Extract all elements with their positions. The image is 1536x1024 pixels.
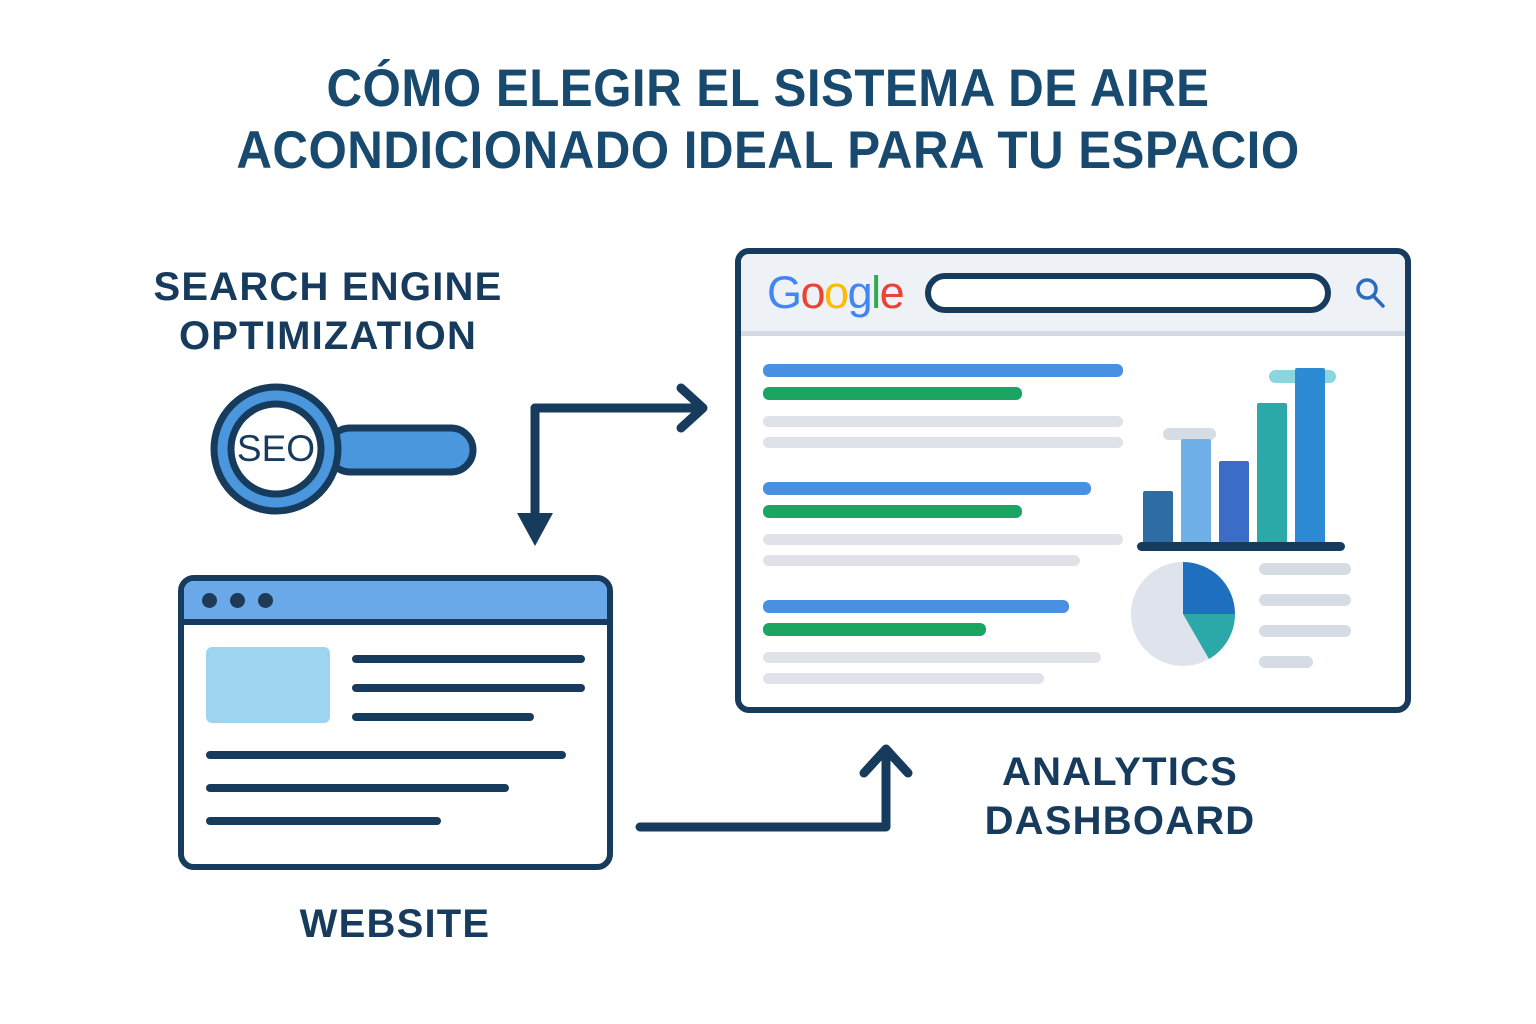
result-description-bar [763, 652, 1101, 663]
text-line [352, 655, 585, 663]
google-logo-letter-o2: o [824, 267, 848, 318]
legend-bar [1259, 656, 1313, 668]
window-dot-maximize-icon[interactable] [258, 593, 273, 608]
google-logo-letter-g1: G [767, 267, 801, 318]
legend-bar [1259, 563, 1351, 575]
seo-badge-text: SEO [237, 428, 315, 469]
window-dot-minimize-icon[interactable] [230, 593, 245, 608]
search-icon[interactable] [1353, 276, 1387, 310]
result-title-bar [763, 600, 1069, 613]
google-logo-letter-e: e [880, 267, 904, 318]
google-header: Google [741, 254, 1405, 336]
page-title: CÓMO ELEGIR EL SISTEMA DE AIRE ACONDICIO… [54, 58, 1482, 182]
arrow-website-to-analytics [632, 735, 922, 840]
bar-3 [1219, 461, 1249, 543]
search-results-list [763, 358, 1123, 708]
search-result-item[interactable] [763, 600, 1123, 684]
google-logo: Google [767, 270, 903, 316]
bar-chart-baseline [1137, 542, 1345, 551]
website-browser-mockup[interactable] [178, 575, 613, 870]
website-titlebar [184, 581, 607, 625]
text-line [352, 713, 534, 721]
website-content [184, 625, 607, 825]
bar-4 [1257, 403, 1287, 543]
pie-slice-b [1183, 562, 1235, 614]
search-result-item[interactable] [763, 364, 1123, 448]
google-search-panel[interactable]: Google [735, 248, 1411, 713]
magnifying-glass-seo-icon: SEO [208, 382, 478, 517]
search-result-item[interactable] [763, 482, 1123, 566]
result-title-bar [763, 482, 1091, 495]
bar-1 [1143, 491, 1173, 543]
text-line [352, 684, 585, 692]
result-url-bar [763, 387, 1022, 400]
text-line [206, 817, 441, 825]
search-input[interactable] [925, 273, 1331, 313]
window-dot-close-icon[interactable] [202, 593, 217, 608]
result-title-bar [763, 364, 1123, 377]
result-description-bar [763, 437, 1123, 448]
arrow-head-down-icon [517, 513, 553, 546]
text-line [206, 784, 509, 792]
google-logo-letter-g2: g [848, 267, 872, 318]
infographic-canvas: CÓMO ELEGIR EL SISTEMA DE AIRE ACONDICIO… [0, 0, 1536, 1024]
analytics-section-label: ANALYTICS DASHBOARD [930, 748, 1310, 846]
bar-chart-bars [1143, 383, 1339, 543]
google-logo-letter-o1: o [801, 267, 825, 318]
website-body-lines [206, 751, 585, 825]
legend-bar [1259, 625, 1351, 637]
result-url-bar [763, 505, 1022, 518]
pie-chart [1129, 560, 1237, 668]
google-logo-letter-l: l [871, 267, 880, 318]
result-description-bar [763, 555, 1080, 566]
bar-2 [1181, 439, 1211, 543]
result-description-bar [763, 416, 1123, 427]
website-top-row [206, 647, 585, 723]
website-paragraph-lines [352, 647, 585, 721]
seo-section-label: SEARCH ENGINE OPTIMIZATION [78, 263, 578, 361]
legend-bar [1259, 594, 1351, 606]
text-line [206, 751, 566, 759]
arrow-seo-branch [495, 368, 725, 558]
analytics-charts [1123, 358, 1383, 708]
pie-chart-section [1129, 560, 1351, 668]
pie-chart-legend [1259, 561, 1351, 668]
bar-5 [1295, 368, 1325, 543]
result-url-bar [763, 623, 986, 636]
result-description-bar [763, 673, 1044, 684]
result-description-bar [763, 534, 1123, 545]
website-section-label: WEBSITE [155, 900, 635, 949]
google-body [741, 336, 1405, 708]
bar-chart [1137, 376, 1383, 551]
website-image-placeholder [206, 647, 330, 723]
